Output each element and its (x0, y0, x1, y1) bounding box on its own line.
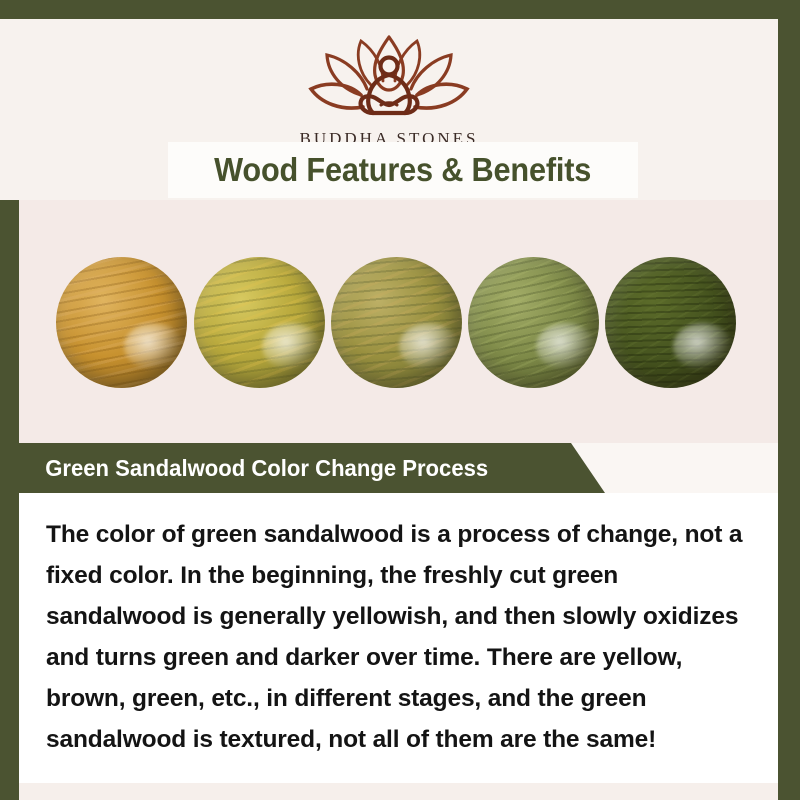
bead-stage-3 (331, 257, 462, 388)
description-text: The color of green sandalwood is a proce… (46, 514, 752, 760)
bead-stage-5 (605, 257, 736, 388)
bottom-strip (19, 783, 778, 800)
description-panel: The color of green sandalwood is a proce… (19, 493, 778, 783)
page-title: Wood Features & Benefits (215, 151, 592, 189)
page-title-band: Wood Features & Benefits (168, 142, 638, 198)
frame-left-border (0, 200, 19, 800)
bead-stage-1 (56, 257, 187, 388)
infographic-card: BUDDHA STONES Wood Features & Benefits (0, 0, 800, 800)
section-heading-banner: Green Sandalwood Color Change Process (19, 443, 605, 493)
frame-top-border (0, 0, 800, 19)
lotus-meditation-figure-icon (301, 33, 477, 125)
section-heading: Green Sandalwood Color Change Process (45, 455, 488, 482)
bead-gallery (19, 200, 778, 443)
bead-stage-4 (468, 257, 599, 388)
bead-row (19, 200, 778, 443)
logo-lockup: BUDDHA STONES (0, 33, 778, 149)
bead-stage-2 (194, 257, 325, 388)
frame-right-border (778, 0, 800, 800)
